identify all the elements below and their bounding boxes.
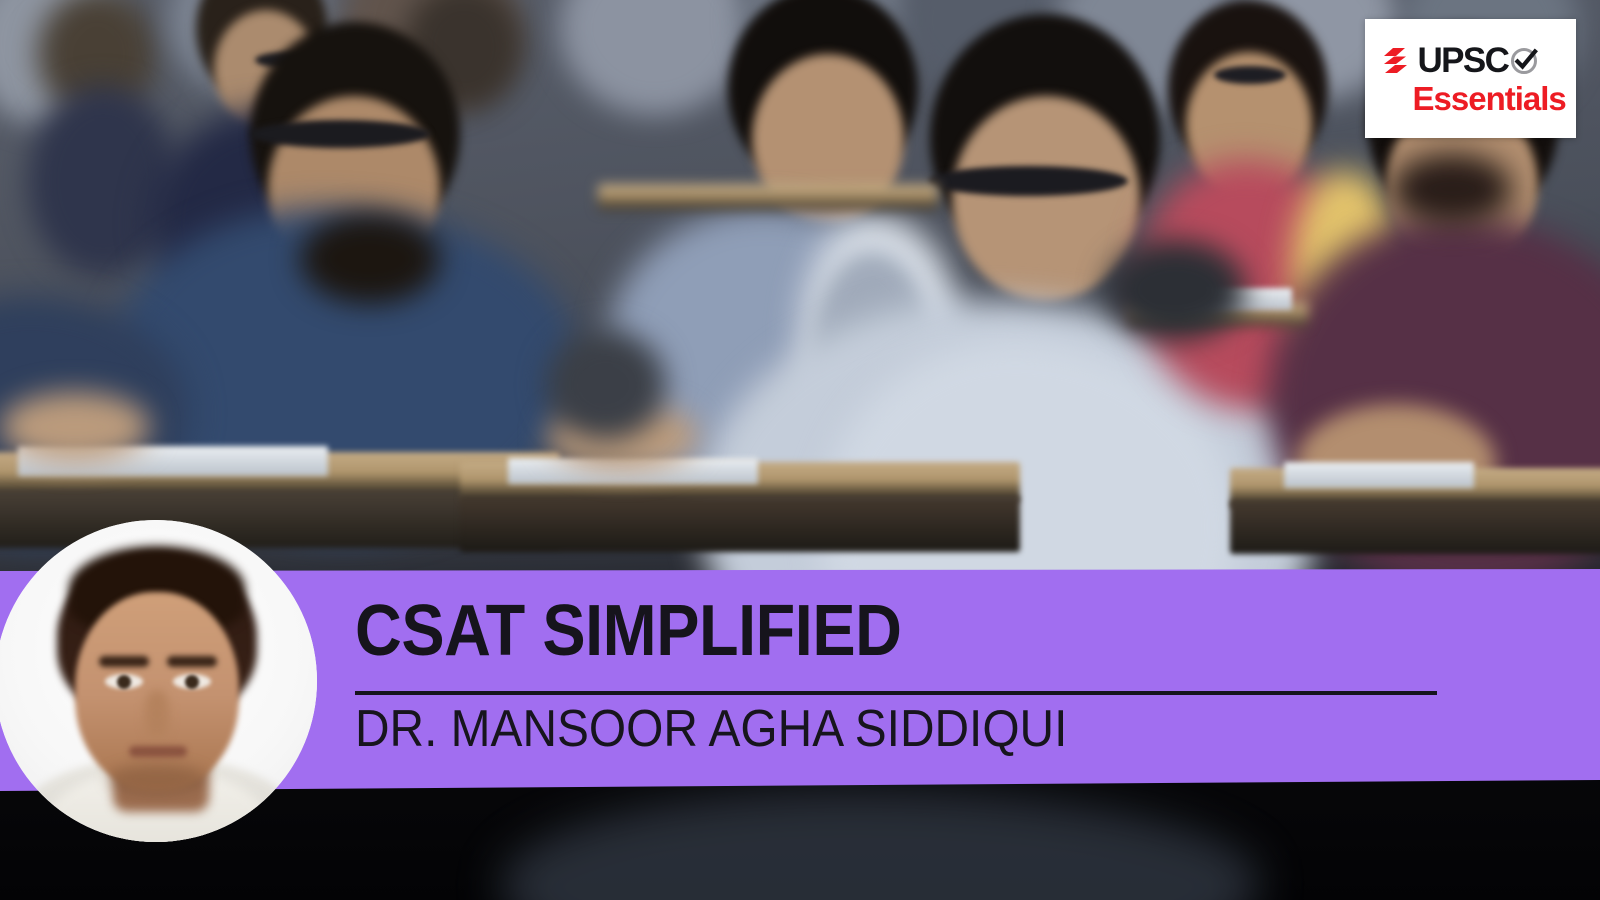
presenter-avatar xyxy=(0,520,317,842)
check-circle-icon xyxy=(1509,46,1539,76)
upsc-wordmark: UPSC xyxy=(1418,44,1509,78)
promo-card: UPSC Essentials CSAT SIMPLIFIED DR. MANS… xyxy=(0,0,1600,900)
presenter-name: DR. MANSOOR AGHA SIDDIQUI xyxy=(355,701,1067,757)
title-banner-content: CSAT SIMPLIFIED DR. MANSOOR AGHA SIDDIQU… xyxy=(355,569,1445,791)
title-divider xyxy=(355,691,1437,695)
presenter-avatar-photo xyxy=(0,520,317,842)
logo-tagline: Essentials xyxy=(1413,82,1561,116)
page-title: CSAT SIMPLIFIED xyxy=(355,595,901,667)
upsc-stripes-mark xyxy=(1381,45,1413,77)
upsc-essentials-logo-card: UPSC Essentials xyxy=(1365,19,1576,138)
